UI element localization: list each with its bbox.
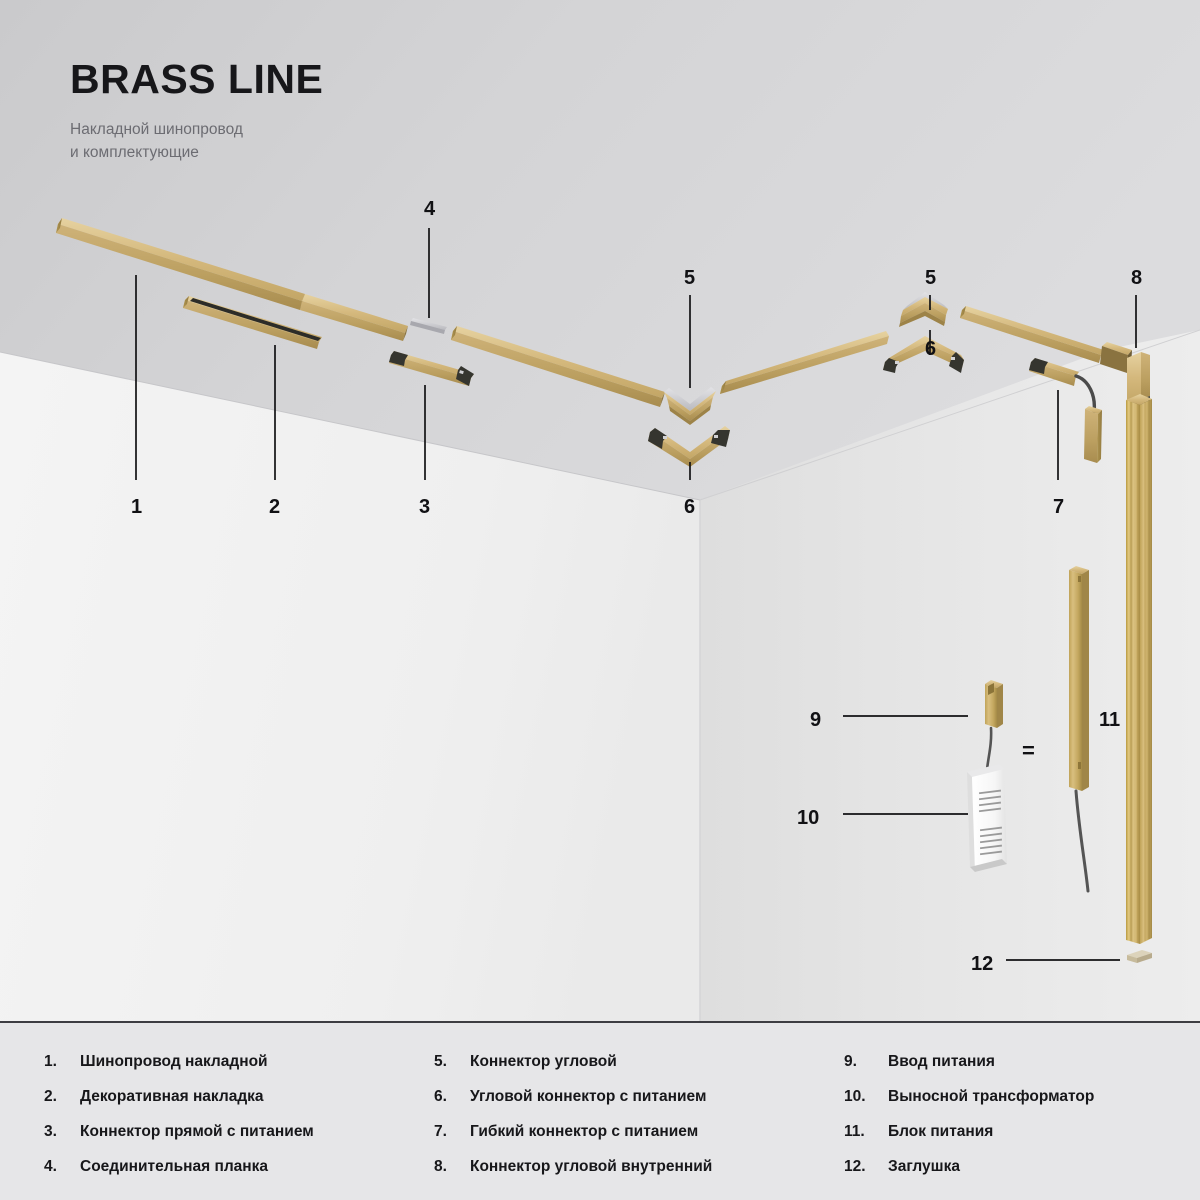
legend-item-2: 2. Декоративная накладка: [44, 1088, 412, 1105]
scene-svg: [0, 0, 1200, 1022]
legend-number-4: 4.: [44, 1158, 80, 1175]
legend-label-10: Выносной трансформатор: [888, 1088, 1094, 1105]
legend-label-4: Соединительная планка: [80, 1158, 268, 1175]
legend: 1. Шинопровод накладной 2. Декоративная …: [0, 1023, 1200, 1200]
product-scene: [0, 0, 1200, 1022]
legend-number-2: 2.: [44, 1088, 80, 1105]
part-remote-transformer: [967, 764, 1007, 872]
legend-item-10: 10. Выносной трансформатор: [844, 1088, 1200, 1105]
legend-item-5: 5. Коннектор угловой: [434, 1053, 824, 1070]
legend-item-12: 12. Заглушка: [844, 1158, 1200, 1175]
legend-label-6: Угловой коннектор с питанием: [470, 1088, 706, 1105]
legend-label-7: Гибкий коннектор с питанием: [470, 1123, 698, 1140]
legend-number-12: 12.: [844, 1158, 888, 1175]
legend-item-6: 6. Угловой коннектор с питанием: [434, 1088, 824, 1105]
legend-item-1: 1. Шинопровод накладной: [44, 1053, 412, 1070]
part-vertical-track-rail: [1126, 394, 1152, 944]
legend-label-5: Коннектор угловой: [470, 1053, 617, 1070]
legend-label-3: Коннектор прямой с питанием: [80, 1123, 314, 1140]
legend-number-11: 11.: [844, 1123, 888, 1140]
legend-item-7: 7. Гибкий коннектор с питанием: [434, 1123, 824, 1140]
legend-number-6: 6.: [434, 1088, 470, 1105]
legend-item-8: 8. Коннектор угловой внутренний: [434, 1158, 824, 1175]
legend-label-11: Блок питания: [888, 1123, 993, 1140]
legend-number-9: 9.: [844, 1053, 888, 1070]
legend-item-3: 3. Коннектор прямой с питанием: [44, 1123, 412, 1140]
product-diagram-page: BRASS LINE Накладной шинопровод и компле…: [0, 0, 1200, 1200]
legend-item-9: 9. Ввод питания: [844, 1053, 1200, 1070]
legend-number-8: 8.: [434, 1158, 470, 1175]
legend-label-12: Заглушка: [888, 1158, 960, 1175]
legend-label-9: Ввод питания: [888, 1053, 995, 1070]
legend-number-1: 1.: [44, 1053, 80, 1070]
legend-label-8: Коннектор угловой внутренний: [470, 1158, 712, 1175]
legend-item-4: 4. Соединительная планка: [44, 1158, 412, 1175]
legend-item-11: 11. Блок питания: [844, 1123, 1200, 1140]
legend-number-5: 5.: [434, 1053, 470, 1070]
legend-column-1: 1. Шинопровод накладной 2. Декоративная …: [0, 1053, 412, 1200]
legend-number-7: 7.: [434, 1123, 470, 1140]
legend-number-3: 3.: [44, 1123, 80, 1140]
legend-column-2: 5. Коннектор угловой 6. Угловой коннекто…: [412, 1053, 824, 1200]
legend-column-3: 9. Ввод питания 10. Выносной трансформат…: [824, 1053, 1200, 1200]
legend-number-10: 10.: [844, 1088, 888, 1105]
legend-label-1: Шинопровод накладной: [80, 1053, 268, 1070]
legend-label-2: Декоративная накладка: [80, 1088, 264, 1105]
